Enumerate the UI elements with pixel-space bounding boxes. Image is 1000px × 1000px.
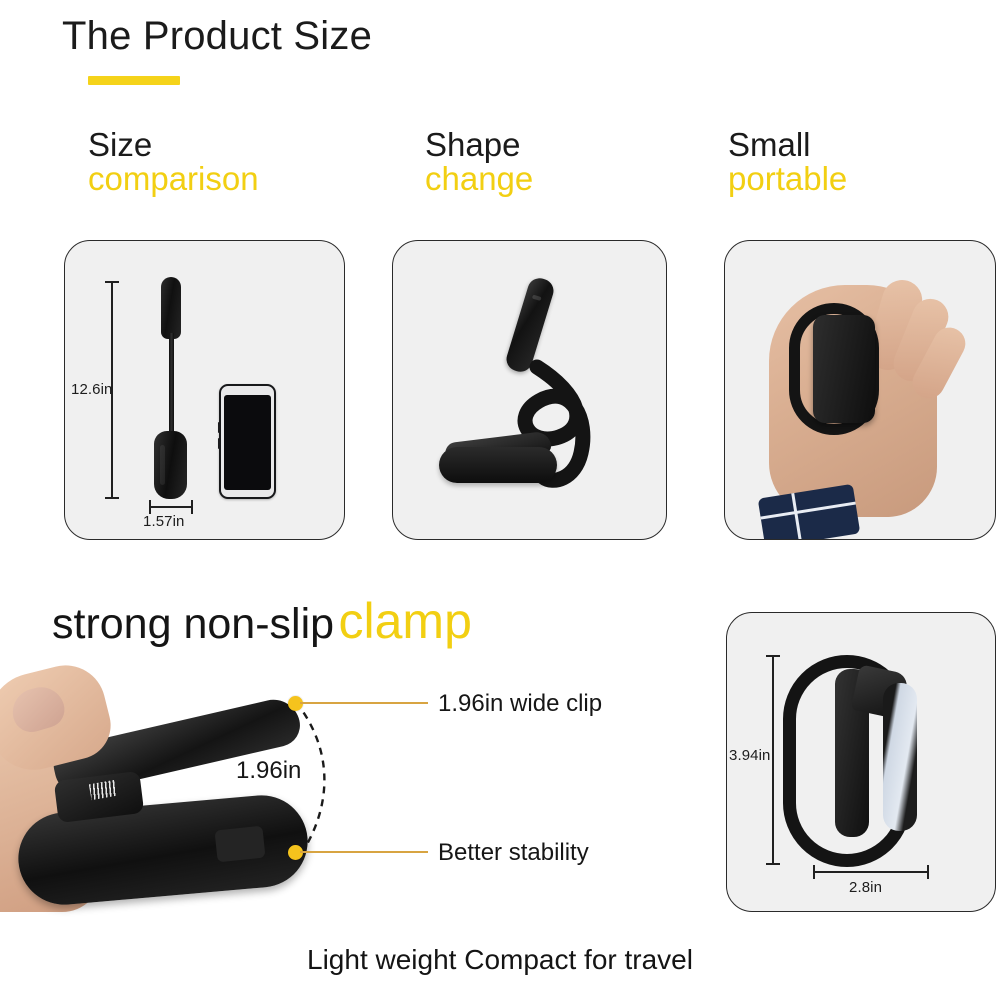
folded-light-illustration [813, 315, 875, 423]
lamp-gooseneck-illustration [169, 333, 174, 439]
dimension-label-width: 2.8in [849, 879, 882, 896]
smartphone-illustration [219, 384, 276, 499]
feature-heading-line1: Size [88, 128, 259, 162]
feature-heading-line1: Shape [425, 128, 533, 162]
panel-folded-dimensions: 3.94in 2.8in [726, 612, 996, 912]
feature-heading-line2: change [425, 162, 533, 196]
feature-heading-shape-change: Shape change [425, 128, 533, 197]
clamp-title-black: strong non-slip [52, 600, 334, 648]
shirt-cuff-illustration [758, 484, 861, 540]
dimension-cap-right [191, 500, 193, 514]
dimension-cap-right [927, 865, 929, 879]
feature-heading-line1: Small [728, 128, 847, 162]
dimension-line-height [772, 655, 774, 865]
dimension-cap-left [813, 865, 815, 879]
callout-leader-better-stability [300, 851, 428, 853]
folded-light-photo: 3.94in 2.8in [727, 613, 995, 911]
size-comparison-photo: 12.6in 1.57in [65, 241, 344, 539]
dimension-label-height: 12.6in [71, 381, 112, 398]
panel-small-portable [724, 240, 996, 540]
dimension-cap-top [105, 281, 119, 283]
callout-leader-wide-clip [300, 702, 428, 704]
clamp-base-illustration [439, 447, 557, 483]
clamp-in-hand-photo [0, 662, 334, 930]
panel-shape-change [392, 240, 667, 540]
callout-label-better-stability: Better stability [438, 839, 589, 867]
dimension-line-width [813, 871, 929, 873]
phone-side-button [218, 422, 221, 433]
feature-heading-size-comparison: Size comparison [88, 128, 259, 197]
footer-caption: Light weight Compact for travel [0, 944, 1000, 976]
clamp-opening-label: 1.96in [236, 757, 301, 785]
panel-size-comparison: 12.6in 1.57in [64, 240, 345, 540]
title-underline-rule [88, 76, 180, 85]
product-size-infographic: The Product Size Size comparison Shape c… [0, 0, 1000, 1000]
phone-side-button [218, 438, 221, 449]
dimension-cap-top [766, 655, 780, 657]
lamp-led-panel-illustration [883, 683, 917, 831]
feature-heading-line2: comparison [88, 162, 259, 196]
dimension-cap-bottom [766, 863, 780, 865]
dimension-label-height: 3.94in [729, 747, 770, 764]
feature-heading-line2: portable [728, 162, 847, 196]
callout-label-wide-clip: 1.96in wide clip [438, 690, 602, 718]
dimension-cap-left [149, 500, 151, 514]
shape-change-photo [393, 241, 666, 539]
clamp-rubber-pad-illustration [214, 826, 265, 863]
hand-holding-light-photo [725, 241, 995, 539]
phone-screen [224, 395, 271, 490]
feature-heading-small-portable: Small portable [728, 128, 847, 197]
dimension-label-width: 1.57in [143, 513, 184, 530]
clamp-section-title: strong non-slip clamp [52, 596, 472, 646]
lamp-clamp-base-illustration [154, 431, 187, 499]
dimension-cap-bottom [105, 497, 119, 499]
clamp-title-yellow: clamp [339, 593, 472, 649]
page-title: The Product Size [62, 14, 372, 59]
lamp-head-illustration [161, 277, 181, 339]
coiled-gooseneck-illustration [393, 241, 667, 540]
dimension-line-width [149, 506, 193, 508]
